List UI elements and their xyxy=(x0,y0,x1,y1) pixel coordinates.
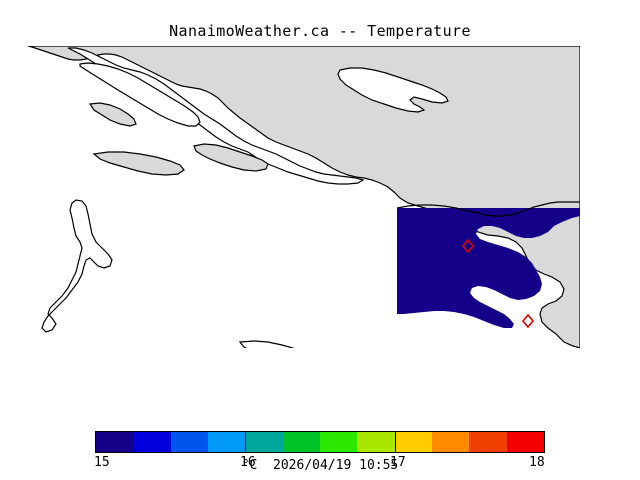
map-plot-area[interactable] xyxy=(28,46,580,348)
colorbar-segment-12 xyxy=(507,432,544,452)
colorbar-gradient[interactable] xyxy=(95,431,545,453)
colorbar-segment-5 xyxy=(245,432,282,452)
colorbar-segment-11 xyxy=(469,432,506,452)
weather-map-page: NanaimoWeather.ca -- Temperature xyxy=(0,0,640,480)
colorbar-segment-4 xyxy=(208,432,245,452)
colorbar-segment-7 xyxy=(320,432,357,452)
colorbar-tick-17 xyxy=(395,431,396,453)
colorbar-tick-16 xyxy=(245,431,246,453)
map-canvas[interactable] xyxy=(28,46,580,348)
variable-readout: Temperature xyxy=(0,0,1,1)
colorbar-segment-2 xyxy=(133,432,170,452)
land-polygons xyxy=(28,46,580,348)
colorbar-segment-8 xyxy=(357,432,394,452)
long-grey-islet xyxy=(94,152,184,175)
colorbar[interactable]: 15 16 17 18 xyxy=(95,431,545,453)
colorbar-segment-9 xyxy=(395,432,432,452)
south-island-outline xyxy=(240,341,376,348)
west-coast-island-outline xyxy=(42,200,112,332)
colorbar-segment-1 xyxy=(96,432,133,452)
colorbar-segment-6 xyxy=(283,432,320,452)
page-title: NanaimoWeather.ca -- Temperature xyxy=(0,22,640,40)
colorbar-segment-10 xyxy=(432,432,469,452)
field-value-readout: 15.1 xyxy=(0,0,1,1)
station-marker-2[interactable] xyxy=(523,315,533,327)
colorbar-segment-3 xyxy=(171,432,208,452)
colorbar-units-timestamp: °C 2026/04/19 10:55 xyxy=(0,458,640,473)
mid-coast-islet-b xyxy=(90,103,136,126)
island-outlines xyxy=(42,200,376,348)
mainland-landmass xyxy=(28,46,580,348)
